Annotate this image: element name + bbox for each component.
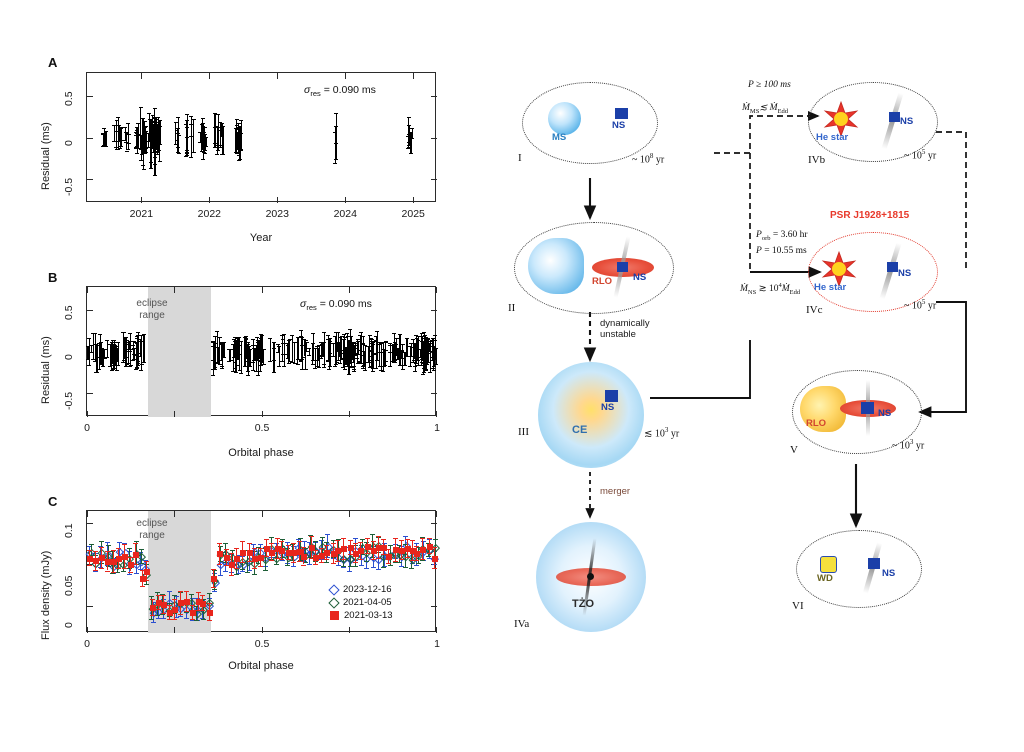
panel-a-error-cap [201,118,205,119]
panel-c-error-cap [414,560,419,561]
panel-b-error-bar [385,342,386,351]
panel-c-ytick [431,523,437,524]
panel-c-error-cap [336,565,341,566]
panel-c-xtick [349,627,350,633]
panel-c-error-cap [161,613,166,614]
panel-b-error-cap [281,354,285,355]
stage-II-ns [617,262,628,272]
legend-item-1: 2021-04-05 [330,596,393,609]
panel-a-error-cap [102,134,106,135]
panel-b-error-cap [211,346,215,347]
panel-c-error-cap [178,591,183,592]
panel-b-error-cap [89,352,93,353]
panel-b-error-cap [333,366,337,367]
panel-b-error-cap [268,338,272,339]
panel-b-sigma-value: = 0.090 ms [320,298,372,310]
panel-b-error-cap [211,375,215,376]
panel-a-error-cap [143,121,147,122]
panel-b-error-bar [140,339,141,356]
panel-a-error-bar [144,127,145,153]
panel-b-error-cap [115,370,119,371]
panel-a-error-bar [126,132,127,141]
panel-b-error-cap [247,346,251,347]
panel-c-error-cap [178,614,183,615]
panel-c-error-cap [353,566,358,567]
stage-VI-orbit [796,530,922,608]
panel-c-error-cap [190,605,195,606]
panel-b-error-cap [95,345,99,346]
stage-III-time-unit: yr [671,428,679,439]
panel-c-error-cap [420,559,425,560]
panel-b-ytick-0: 0.5 [63,305,75,320]
panel-c-error-cap [229,575,234,576]
stage-IVc-time-base: ~ 10 [904,300,922,311]
panel-a-error-bar [240,133,241,149]
panel-b-error-cap [268,361,272,362]
panel-c-error-cap [414,565,419,566]
panel-a-xtick [141,73,142,79]
panel-b-error-cap [290,362,294,363]
panel-b-error-cap [101,366,105,367]
panel-a-sigma-value: = 0.090 ms [324,84,376,96]
panel-b-xtick [174,411,175,417]
panel-b-error-cap [424,362,428,363]
panel-b-error-cap [350,347,354,348]
stage-I-timescale: ~ 108 yr [632,152,664,165]
panel-c-error-cap [297,561,302,562]
panel-c-error-cap [247,543,252,544]
panel-b-error-cap [238,370,242,371]
panel-c-error-cap [245,572,250,573]
panel-b-error-cap [293,342,297,343]
panel-b-error-bar [377,331,378,360]
panel-b-error-cap [327,369,331,370]
panel-b-error-bar [270,338,271,361]
panel-a-error-cap [134,132,138,133]
panel-b-error-cap [138,356,142,357]
panel-b-error-cap [124,366,128,367]
panel-a-xtick-label-2: 2023 [255,208,299,220]
panel-c-error-cap [324,562,329,563]
panel-c-error-cap [386,563,391,564]
stage-IVb-ns-label: NS [900,116,913,127]
panel-a-error-cap [176,152,180,153]
panel-a-xtick-label-4: 2025 [391,208,435,220]
panel-c-error-cap [280,560,285,561]
panel-a-ytick [87,96,93,97]
transition-mdot-ns: ṀNS ≳ 104ṀEdd [740,282,800,296]
panel-b-error-bar [297,337,298,364]
panel-c-error-cap [371,567,376,568]
panel-c-data-point [224,555,230,561]
panel-b-xlabel: Orbital phase [211,447,311,459]
panel-c-error-cap [353,562,358,563]
panel-c-error-cap [133,543,138,544]
panel-b-error-cap [416,365,420,366]
panel-b-error-cap [401,344,405,345]
panel-b-error-cap [243,337,247,338]
panel-b-error-cap [124,357,128,358]
panel-c-ylabel: Flux density (mJy) [40,551,52,640]
panel-c-error-cap [211,569,216,570]
panel-c-data-point [144,569,150,575]
panel-c-error-cap [285,565,290,566]
panel-c-error-cap [240,541,245,542]
panel-c-error-cap [297,541,302,542]
panel-a-error-cap [102,145,106,146]
panel-b-ytick-2: -0.5 [63,392,75,410]
panel-c-error-cap [178,616,183,617]
panel-a-error-cap [203,150,207,151]
mdot-ns-sub2: Edd [790,289,800,296]
stage-IVb-ns [889,112,900,122]
panel-b-error-cap [343,369,347,370]
panel-c-error-cap [234,574,239,575]
panel-a-xtick [413,197,414,203]
panel-b-error-cap [416,336,420,337]
panel-c-error-cap [371,541,376,542]
panel-b-error-cap [368,335,372,336]
panel-c-error-cap [234,548,239,549]
panel-c-error-cap [370,534,375,535]
panel-b-error-bar [361,332,362,362]
panel-a-error-cap [135,153,139,154]
panel-c-error-cap [427,538,432,539]
panel-b-error-cap [256,375,260,376]
panel-b-error-cap [433,335,437,336]
panel-b-error-cap [134,342,138,343]
panel-b-error-bar [104,349,105,358]
stage-IVb-time-base: ~ 10 [904,150,922,161]
panel-b-error-cap [311,360,315,361]
panel-b-error-cap [431,360,435,361]
panel-c-eclipse-line2: range [117,530,187,542]
panel-c-error-cap [196,592,201,593]
panel-c-eclipse-line1: eclipse [117,518,187,530]
panel-c-data-point [341,546,347,552]
panel-b-error-bar [246,336,247,358]
panel-a-error-cap [334,113,338,114]
panel-c-data-point [178,600,184,606]
panel-a-error-cap [157,127,161,128]
stage-II-roman: II [508,302,515,314]
panel-c-data-point [358,548,364,554]
panel-c-xtick-label-1: 0.5 [242,638,282,650]
panel-c-error-cap [409,568,414,569]
panel-a-error-bar [203,123,204,148]
stage-V-ns-label: NS [878,408,891,419]
panel-a-error-cap [143,153,147,154]
porb-sub: orb [762,235,771,242]
panel-b-error-cap [87,365,91,366]
panel-b-error-bar [250,349,251,366]
panel-b-ytick [87,393,93,394]
panel-b-error-cap [87,338,91,339]
panel-b-error-bar [107,340,108,357]
panel-b-error-cap [254,345,258,346]
porb-value: = 3.60 hr [773,230,808,240]
panel-b-error-bar [249,346,250,366]
panel-b-error-cap [361,355,365,356]
panel-c-error-cap [393,538,398,539]
panel-c-error-cap [365,553,370,554]
panel-a-ylabel: Residual (ms) [40,122,52,190]
panel-b-error-bar [346,347,347,363]
panel-c-error-cap [376,569,381,570]
stage-V-ns [861,402,874,414]
stage-IVc-timescale: ~ 105 yr [904,298,936,311]
panel-b-error-cap [140,335,144,336]
panel-a-xtick [413,73,414,79]
panel-c-error-cap [301,565,306,566]
panel-b-error-cap [234,343,238,344]
panel-c-data-point [386,554,392,560]
panel-b-error-cap [356,339,360,340]
panel-b-xtick [87,287,88,293]
panel-c-error-cap [149,596,154,597]
panel-c-error-cap [117,542,122,543]
panel-b-ytick-1: 0 [63,354,75,360]
panel-c-data-point [279,548,285,554]
panel-c-error-cap [264,556,269,557]
panel-c-error-cap [335,540,340,541]
panel-a-error-cap [116,117,120,118]
panel-c-error-cap [325,534,330,535]
panel-c-xtick [262,627,263,633]
panel-a-error-bar [105,131,106,146]
panel-b-error-bar [87,346,88,359]
stage-IVa-core [587,573,594,580]
panel-b-error-cap [381,342,385,343]
stage-III-ns [605,390,618,402]
panel-b-error-cap [348,329,352,330]
panel-b-error-cap [352,369,356,370]
panel-c-data-point [313,555,319,561]
mdot-ns-rest2: Ṁ [782,284,790,294]
panel-b-error-bar [279,346,280,365]
panel-c-data-point [150,605,156,611]
panel-c-error-cap [358,542,363,543]
panel-c-letter: C [48,494,57,509]
panel-b-error-cap [220,344,224,345]
panel-c-error-cap [420,538,425,539]
panel-c-ytick [87,606,93,607]
panel-a-error-cap [116,149,120,150]
panel-a-error-cap [185,155,189,156]
panel-c-error-cap [207,620,212,621]
panel-a-error-bar [335,132,336,163]
panel-a-error-cap [141,118,145,119]
panel-b-ytick [431,310,437,311]
panel-c-xtick [174,511,175,517]
panel-b-error-bar [274,348,275,360]
panel-b-error-cap [421,374,425,375]
panel-a-error-cap [185,152,189,153]
panel-c-error-cap [285,542,290,543]
panel-c-error-cap [223,571,228,572]
panel-c-error-cap [414,546,419,547]
panel-a-xtick-label-0: 2021 [119,208,163,220]
panel-b-error-cap [317,367,321,368]
panel-b-error-cap [392,333,396,334]
panel-a-error-cap [156,124,160,125]
panel-a-error-cap [333,132,337,133]
panel-b-error-cap [359,363,363,364]
panel-a-ytick [431,96,437,97]
panel-b-error-cap [131,345,135,346]
panel-b-error-cap [347,374,351,375]
panel-b-error-cap [296,364,300,365]
panel-c-error-cap [139,549,144,550]
panel-c-error-cap [207,593,212,594]
panel-c-error-cap [381,539,386,540]
panel-c-error-cap [251,544,256,545]
panel-a-error-cap [189,157,193,158]
panel-b-error-bar [143,334,144,362]
panel-c-error-cap [116,548,121,549]
mdot-ms-rest: ≲ Ṁ [759,103,777,113]
panel-b-eclipse-line1: eclipse [117,298,187,310]
panel-c-data-point [184,599,190,605]
panel-c-error-cap [313,550,318,551]
panel-c-error-cap [184,611,189,612]
panel-b-error-cap [277,366,281,367]
panel-b-sigma-annotation: σres = 0.090 ms [300,298,372,312]
panel-c-error-cap [140,586,145,587]
legend-label-0: 2023-12-16 [343,583,392,596]
panel-a-error-cap [104,146,108,147]
panel-b-error-cap [424,369,428,370]
panel-b-xtick [349,411,350,417]
panel-b-error-cap [219,342,223,343]
panel-a-error-cap [156,117,160,118]
stage-VI-roman: VI [792,600,804,612]
transition-spin-period: P = 10.55 ms [756,246,807,256]
panel-b-error-cap [105,340,109,341]
panel-c-error-cap [190,619,195,620]
panel-a-error-bar [158,127,159,135]
panel-a-plot-area: 20212022202320242025 [86,72,436,202]
panel-c-data-point [200,601,206,607]
panel-b-error-cap [334,364,338,365]
panel-b-error-cap [307,355,311,356]
panel-b-error-cap [239,373,243,374]
panel-c-error-cap [376,536,381,537]
stage-IVb-time-unit: yr [928,150,936,161]
panel-c-error-cap [432,568,437,569]
panel-c-error-cap [230,550,235,551]
panel-c-error-cap [167,591,172,592]
panel-a-error-cap [215,154,219,155]
panel-b-error-cap [340,359,344,360]
panel-a-error-bar [214,127,215,144]
stage-I-ms-star [548,102,581,135]
panel-b-error-cap [129,349,133,350]
panel-c-error-cap [279,541,284,542]
panel-c-data-point [420,547,426,553]
panel-b-error-cap [258,340,262,341]
panel-c-error-cap [358,559,363,560]
panel-a-error-cap [213,127,217,128]
panel-c-error-cap [280,539,285,540]
panel-b-error-bar [304,339,305,356]
panel-a-error-cap [153,157,157,158]
panel-c-legend: 2023-12-162021-04-052021-03-13 [330,583,393,622]
stage-IVb-roman: IVb [808,154,825,166]
stage-IVc-he-label: He star [814,282,846,293]
panel-a-xtick [277,73,278,79]
panel-c-error-cap [324,545,329,546]
panel-c-error-cap [269,543,274,544]
panel-a-error-cap [146,133,150,134]
panel-b-error-cap [215,363,219,364]
panel-c-error-cap [217,543,222,544]
panel-c-xtick-label-2: 1 [417,638,457,650]
panel-c-error-cap [359,565,364,566]
panel-c-error-cap [258,548,263,549]
panel-c-error-cap [111,572,116,573]
panel-b-error-bar [136,342,137,369]
panel-c-error-cap [319,548,324,549]
panel-c-error-cap [172,599,177,600]
panel-b-error-cap [282,366,286,367]
panel-b-xtick [436,411,437,417]
mdot-ns-symbol: Ṁ [740,284,748,294]
panel-b-error-cap [220,368,224,369]
panel-b-error-cap [321,355,325,356]
panel-a-error-cap [407,147,411,148]
panel-b-error-cap [413,350,417,351]
panel-b-xtick [87,411,88,417]
panel-b-xtick-label-2: 1 [417,422,457,434]
panel-b-error-bar [111,345,112,369]
panel-c-error-cap [184,612,189,613]
panel-c-error-cap [217,564,222,565]
panel-b-error-cap [296,337,300,338]
panel-b-error-cap [317,345,321,346]
panel-b-error-bar [351,347,352,367]
panel-b-error-bar [421,333,422,362]
panel-a-error-cap [410,128,414,129]
panel-b-error-bar [213,346,214,369]
panel-c-data-point [291,550,297,556]
stage-V-roman: V [790,444,798,456]
panel-c-error-cap [212,589,217,590]
panel-c-error-cap [252,574,257,575]
panel-a-error-cap [192,152,196,153]
panel-b-error-bar [260,340,261,371]
panel-c-error-cap [155,615,160,616]
panel-a-error-cap [237,123,241,124]
panel-b-error-bar [410,346,411,366]
panel-b-error-cap [139,370,143,371]
panel-b-error-bar [414,343,415,351]
panel-a-error-cap [333,163,337,164]
panel-a-error-cap [213,113,217,114]
panel-a-error-bar [205,134,206,150]
panel-c-error-cap [353,543,358,544]
panel-c-error-cap [150,615,155,616]
panel-b-error-bar [357,348,358,358]
panel-a-ytick-1: 0 [63,140,75,146]
panel-a-error-cap [192,119,196,120]
panel-a-error-bar [136,132,137,147]
panel-b-error-cap [134,369,138,370]
panel-a-sigma-subscript: res [310,89,320,98]
stage-II-rlo-label: RLO [592,276,612,287]
panel-c-xtick [174,627,175,633]
stage-III-roman: III [518,426,529,438]
